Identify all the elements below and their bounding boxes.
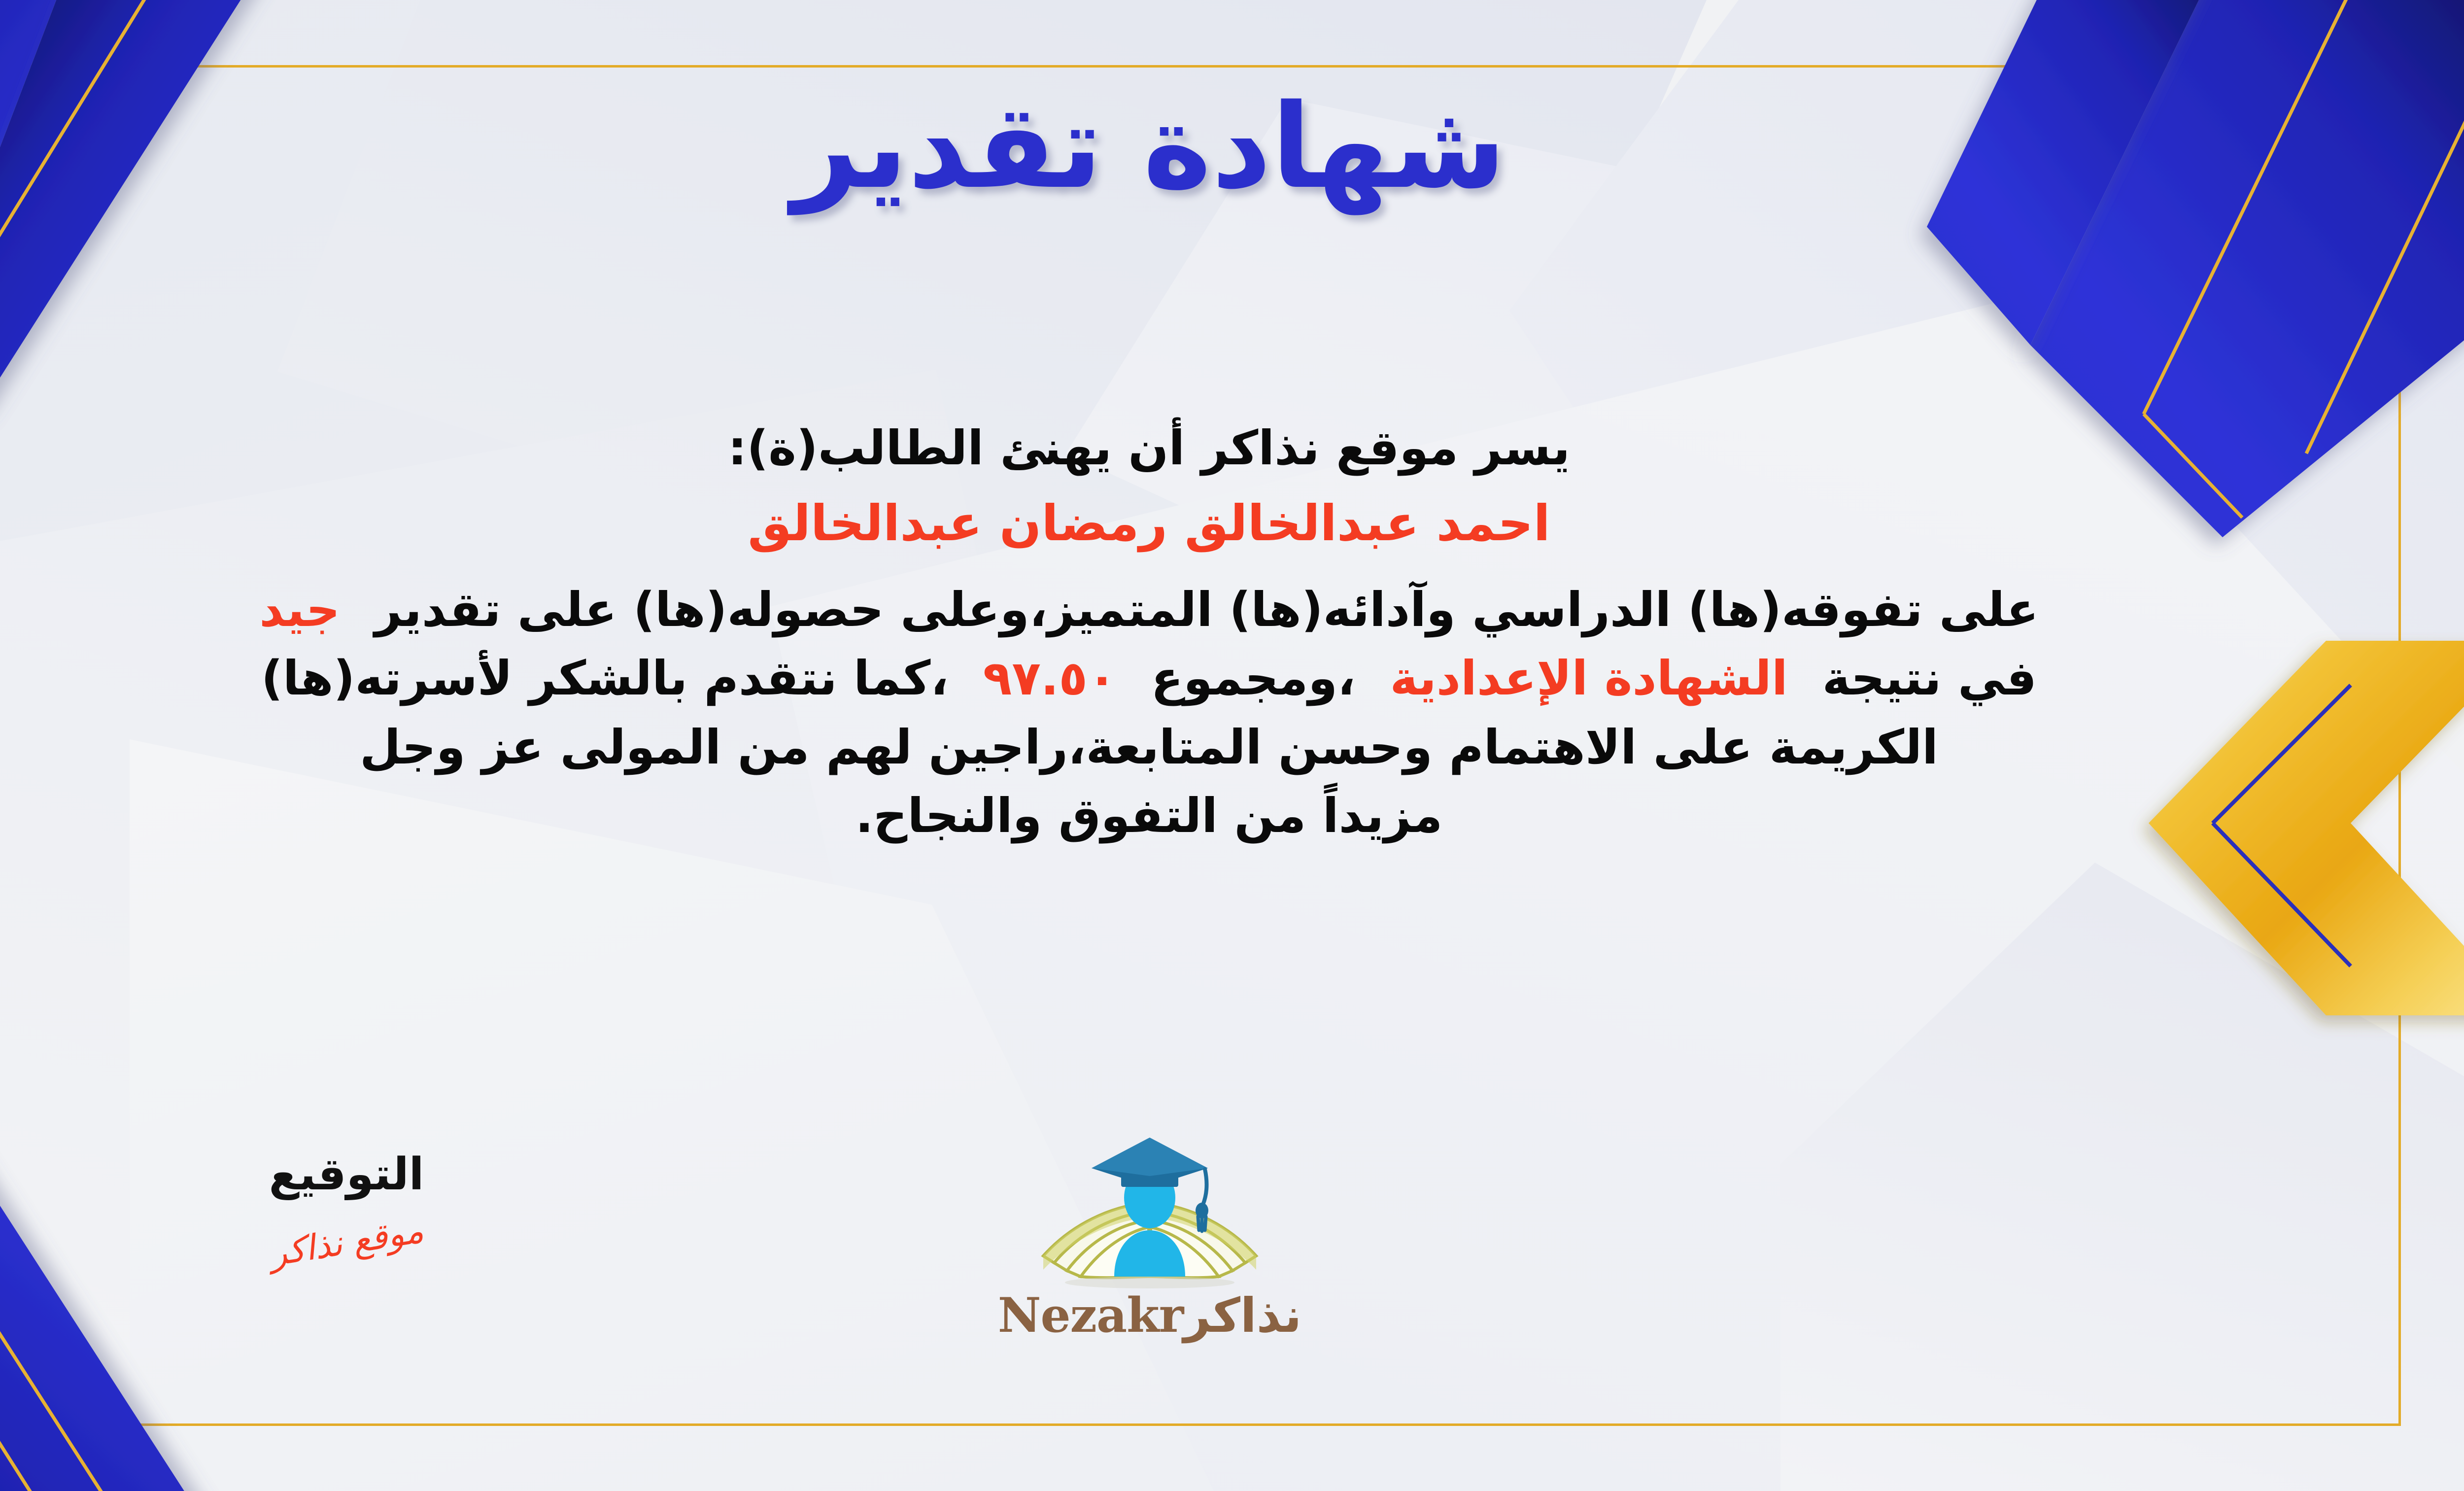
logo-latin: Nezakr [998,1287,1184,1343]
exam-prefix: في نتيجة [1822,651,2037,706]
graduate-book-icon [1012,1129,1288,1291]
logo-arabic: نذاكر [1183,1288,1301,1343]
total-score: ٩٧.٥٠ [983,651,1117,706]
certificate-title: شهادة تقدير [0,79,2464,214]
achievement-text: على تفوقه(ها) الدراسي وآدائه(ها) المتميز… [375,582,2039,637]
exam-line: في نتيجةالشهادة الإعدادية،ومجموع٩٧.٥٠،كم… [0,644,2375,713]
closing-line: مزيداً من التفوق والنجاح. [0,782,2375,850]
student-name: احمد عبدالخالق رمضان عبدالخالق [0,494,2375,552]
logo-wordmark: نذاكرNezakr [972,1287,1327,1343]
certificate-canvas: شهادة تقدير يسر موقع نذاكر أن يهنئ الطال… [0,0,2464,1491]
exam-name: الشهادة الإعدادية [1390,651,1787,706]
signature-label: التوقيع [208,1148,484,1200]
family-thanks-line: الكريمة على الاهتمام وحسن المتابعة،راجين… [0,713,2375,782]
intro-line: يسر موقع نذاكر أن يهنئ الطالب(ة): [0,414,2375,483]
achievement-line: على تفوقه(ها) الدراسي وآدائه(ها) المتميز… [0,576,2375,644]
brand-logo: نذاكرNezakr [972,1129,1327,1343]
signature-block: التوقيع موقع نذاكر [208,1148,484,1262]
thanks-prefix: ،كما نتقدم بالشكر لأسرته(ها) [261,651,949,706]
certificate-body: يسر موقع نذاكر أن يهنئ الطالب(ة): احمد ع… [0,414,2375,850]
total-label: ،ومجموع [1151,651,1356,706]
grade-value: جيد [259,582,340,637]
